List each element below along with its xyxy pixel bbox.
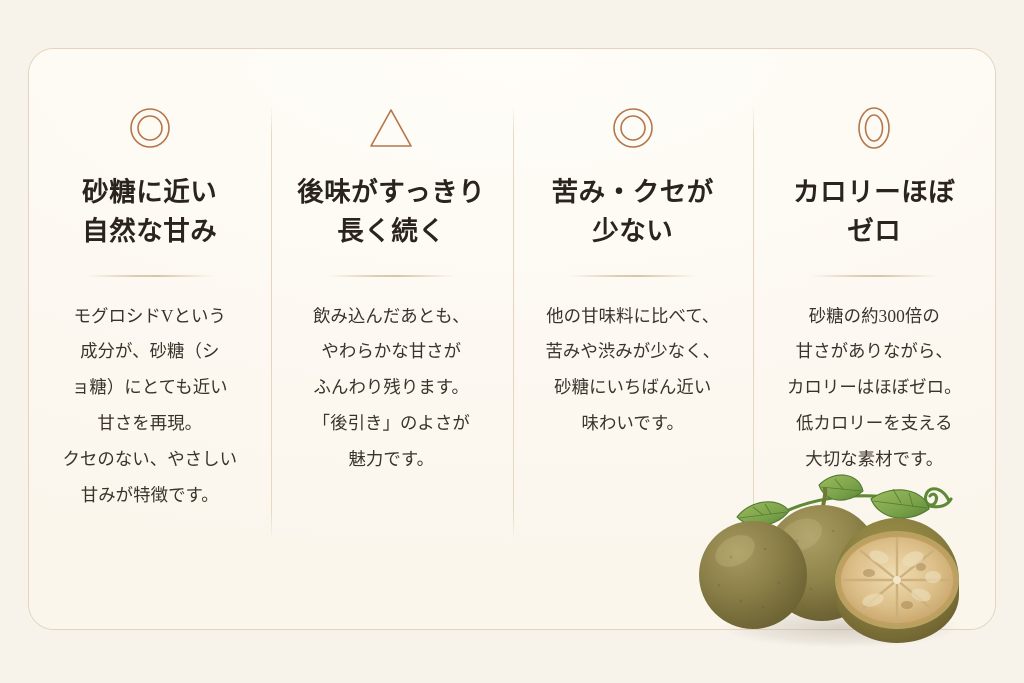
feature-title: 砂糖に近い 自然な甘み <box>47 173 253 251</box>
title-rule <box>86 275 214 276</box>
feature-column-3: 苦み・クセが 少ない 他の甘味料に比べて、 苦みや渋みが少なく、 砂糖にいちばん… <box>512 49 754 442</box>
double-circle-icon <box>530 105 736 151</box>
page-root: 砂糖に近い 自然な甘み モグロシドVという 成分が、砂糖（シ ョ糖）にとても近い… <box>0 0 1024 683</box>
feature-column-1: 砂糖に近い 自然な甘み モグロシドVという 成分が、砂糖（シ ョ糖）にとても近い… <box>29 49 271 514</box>
feature-body: 砂糖の約300倍の 甘さがありながら、 カロリーはほぼゼロ。 低カロリーを支える… <box>772 299 978 478</box>
feature-body: 他の甘味料に比べて、 苦みや渋みが少なく、 砂糖にいちばん近い 味わいです。 <box>530 299 736 442</box>
title-rule <box>569 275 697 276</box>
feature-title: 後味がすっきり 長く続く <box>289 173 495 251</box>
feature-body: 飲み込んだあとも、 やわらかな甘さが ふんわり残ります。 「後引き」のよさが 魅… <box>289 299 495 478</box>
double-ellipse-icon <box>772 105 978 151</box>
double-circle-icon <box>47 105 253 151</box>
title-rule <box>327 275 455 276</box>
feature-columns: 砂糖に近い 自然な甘み モグロシドVという 成分が、砂糖（シ ョ糖）にとても近い… <box>29 49 995 629</box>
feature-column-4: カロリーほぼ ゼロ 砂糖の約300倍の 甘さがありながら、 カロリーはほぼゼロ。… <box>754 49 996 478</box>
feature-column-2: 後味がすっきり 長く続く 飲み込んだあとも、 やわらかな甘さが ふんわり残ります… <box>271 49 513 478</box>
triangle-outline-icon <box>289 105 495 151</box>
feature-title: 苦み・クセが 少ない <box>530 173 736 251</box>
title-rule <box>810 275 938 276</box>
feature-card: 砂糖に近い 自然な甘み モグロシドVという 成分が、砂糖（シ ョ糖）にとても近い… <box>28 48 996 630</box>
feature-title: カロリーほぼ ゼロ <box>772 173 978 251</box>
feature-body: モグロシドVという 成分が、砂糖（シ ョ糖）にとても近い 甘さを再現。 クセのな… <box>47 299 253 514</box>
